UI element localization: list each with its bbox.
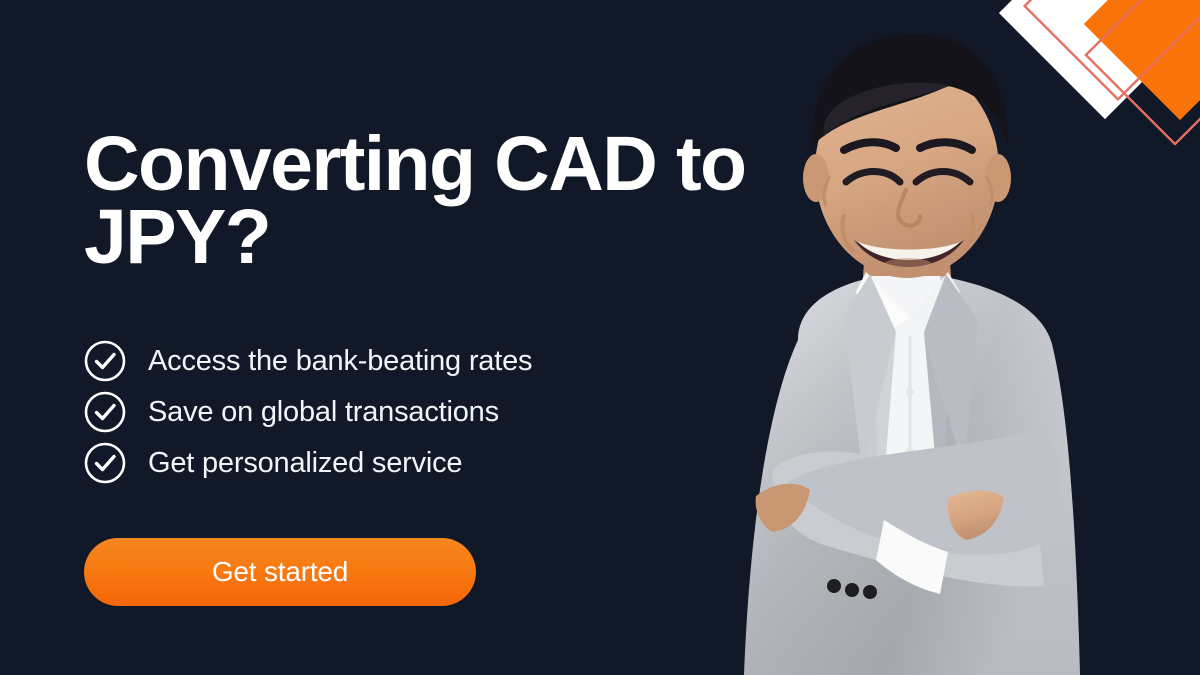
feature-label: Save on global transactions bbox=[148, 398, 499, 427]
list-item: Access the bank-beating rates bbox=[84, 336, 724, 386]
check-circle-icon bbox=[84, 442, 126, 484]
page-title: Converting CAD to JPY? bbox=[84, 128, 764, 274]
person-figure bbox=[744, 34, 1080, 675]
sleeve-button bbox=[827, 579, 841, 593]
promo-banner: Converting CAD to JPY? Access the bank-b… bbox=[0, 0, 1200, 675]
list-item: Get personalized service bbox=[84, 438, 724, 488]
list-item: Save on global transactions bbox=[84, 387, 724, 437]
sleeve-button bbox=[863, 585, 877, 599]
sleeve-button bbox=[845, 583, 859, 597]
ear-right bbox=[985, 154, 1011, 202]
chin-shadow bbox=[882, 258, 934, 274]
check-circle-icon bbox=[84, 340, 126, 382]
feature-label: Get personalized service bbox=[148, 449, 462, 478]
feature-label: Access the bank-beating rates bbox=[148, 347, 532, 376]
shirt-button bbox=[906, 388, 914, 396]
content-column: Converting CAD to JPY? Access the bank-b… bbox=[84, 0, 744, 675]
get-started-button[interactable]: Get started bbox=[84, 538, 476, 606]
feature-list: Access the bank-beating rates Save on gl… bbox=[84, 336, 724, 489]
check-circle-icon bbox=[84, 391, 126, 433]
